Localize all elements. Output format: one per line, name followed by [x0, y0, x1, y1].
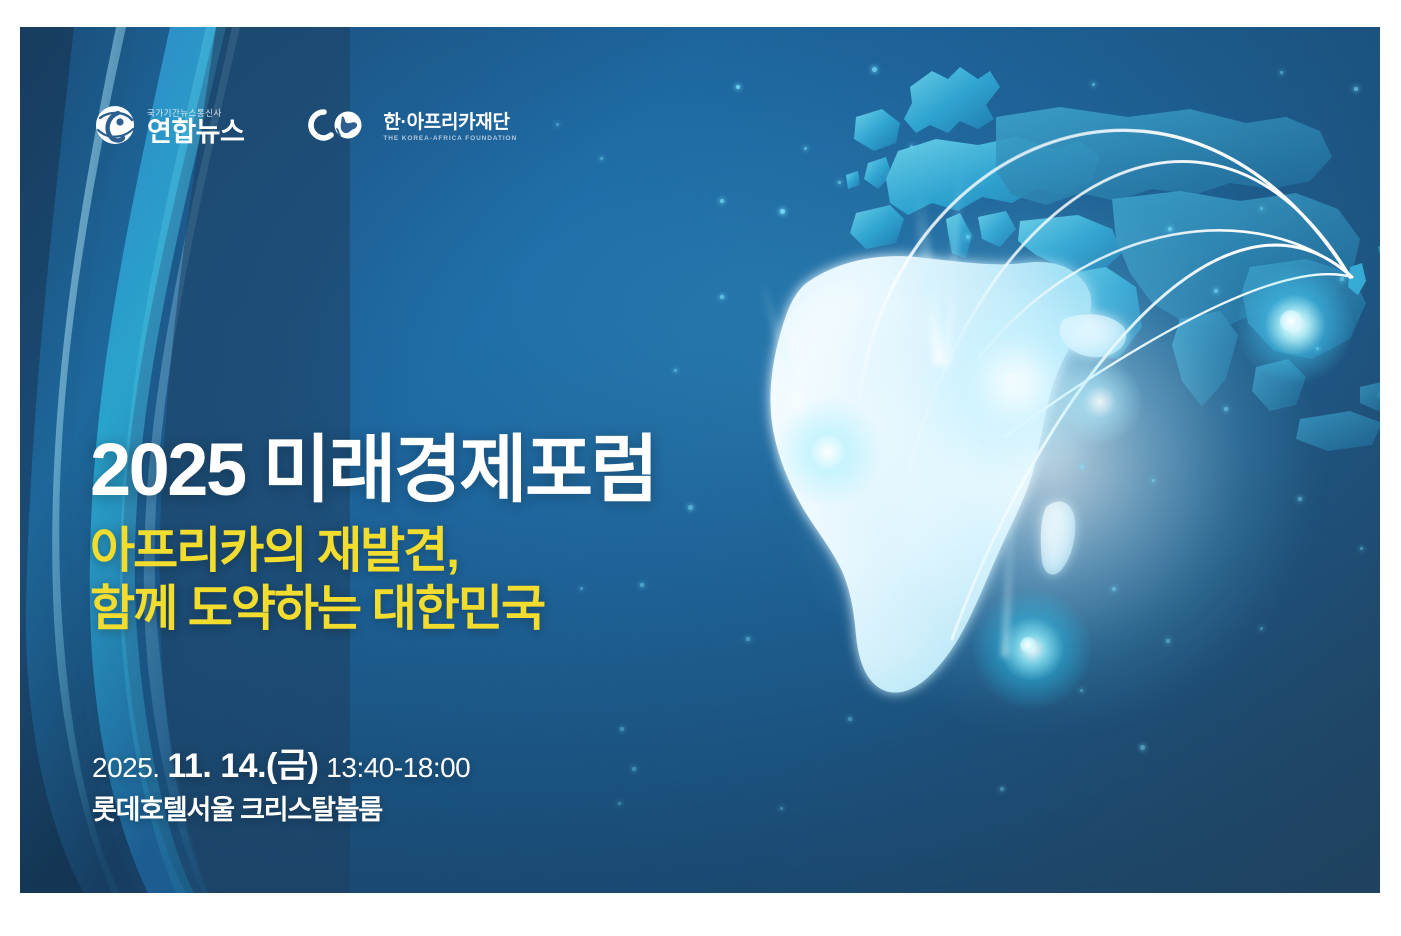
event-details: 2025. 11. 14.(금) 13:40-18:00 롯데호텔서울 크리스탈… — [92, 747, 792, 826]
forum-subtitle-line2: 함께 도약하는 대한민국 — [90, 581, 870, 638]
yonhap-name: 연합뉴스 — [147, 119, 244, 146]
yonhap-tagline: 국가기간뉴스통신사 — [147, 109, 244, 118]
logo-korea-africa-foundation[interactable]: 한·아프리카재단 THE KOREA-AFRICA FOUNDATION — [300, 105, 517, 150]
event-venue: 롯데호텔서울 크리스탈볼룸 — [92, 794, 792, 826]
headline-block: 2025 미래경제포럼 아프리카의 재발견, 함께 도약하는 대한민국 — [90, 432, 870, 638]
event-year: 2025. — [92, 752, 160, 783]
forum-title: 2025 미래경제포럼 — [90, 432, 870, 507]
page-canvas: 국가기간뉴스통신사 연합뉴스 한·아프리카재단 THE KOREA-AFRICA… — [0, 0, 1401, 936]
organizer-logos: 국가기간뉴스통신사 연합뉴스 한·아프리카재단 THE KOREA-AFRICA… — [92, 102, 517, 153]
korea-africa-globe-icon — [300, 105, 374, 150]
logo-yonhap-news[interactable]: 국가기간뉴스통신사 연합뉴스 — [92, 102, 244, 153]
event-datetime: 2025. 11. 14.(금) 13:40-18:00 — [92, 747, 792, 786]
kaf-name-en: THE KOREA-AFRICA FOUNDATION — [383, 136, 517, 143]
event-poster: 국가기간뉴스통신사 연합뉴스 한·아프리카재단 THE KOREA-AFRICA… — [20, 27, 1380, 893]
forum-subtitle-line1: 아프리카의 재발견, — [90, 523, 870, 580]
yonhap-globe-icon — [92, 102, 138, 153]
kaf-name: 한·아프리카재단 — [383, 113, 517, 133]
event-day: 11. 14.(금) — [167, 747, 318, 785]
forum-subtitle: 아프리카의 재발견, 함께 도약하는 대한민국 — [90, 523, 870, 638]
event-time: 13:40-18:00 — [326, 752, 470, 783]
